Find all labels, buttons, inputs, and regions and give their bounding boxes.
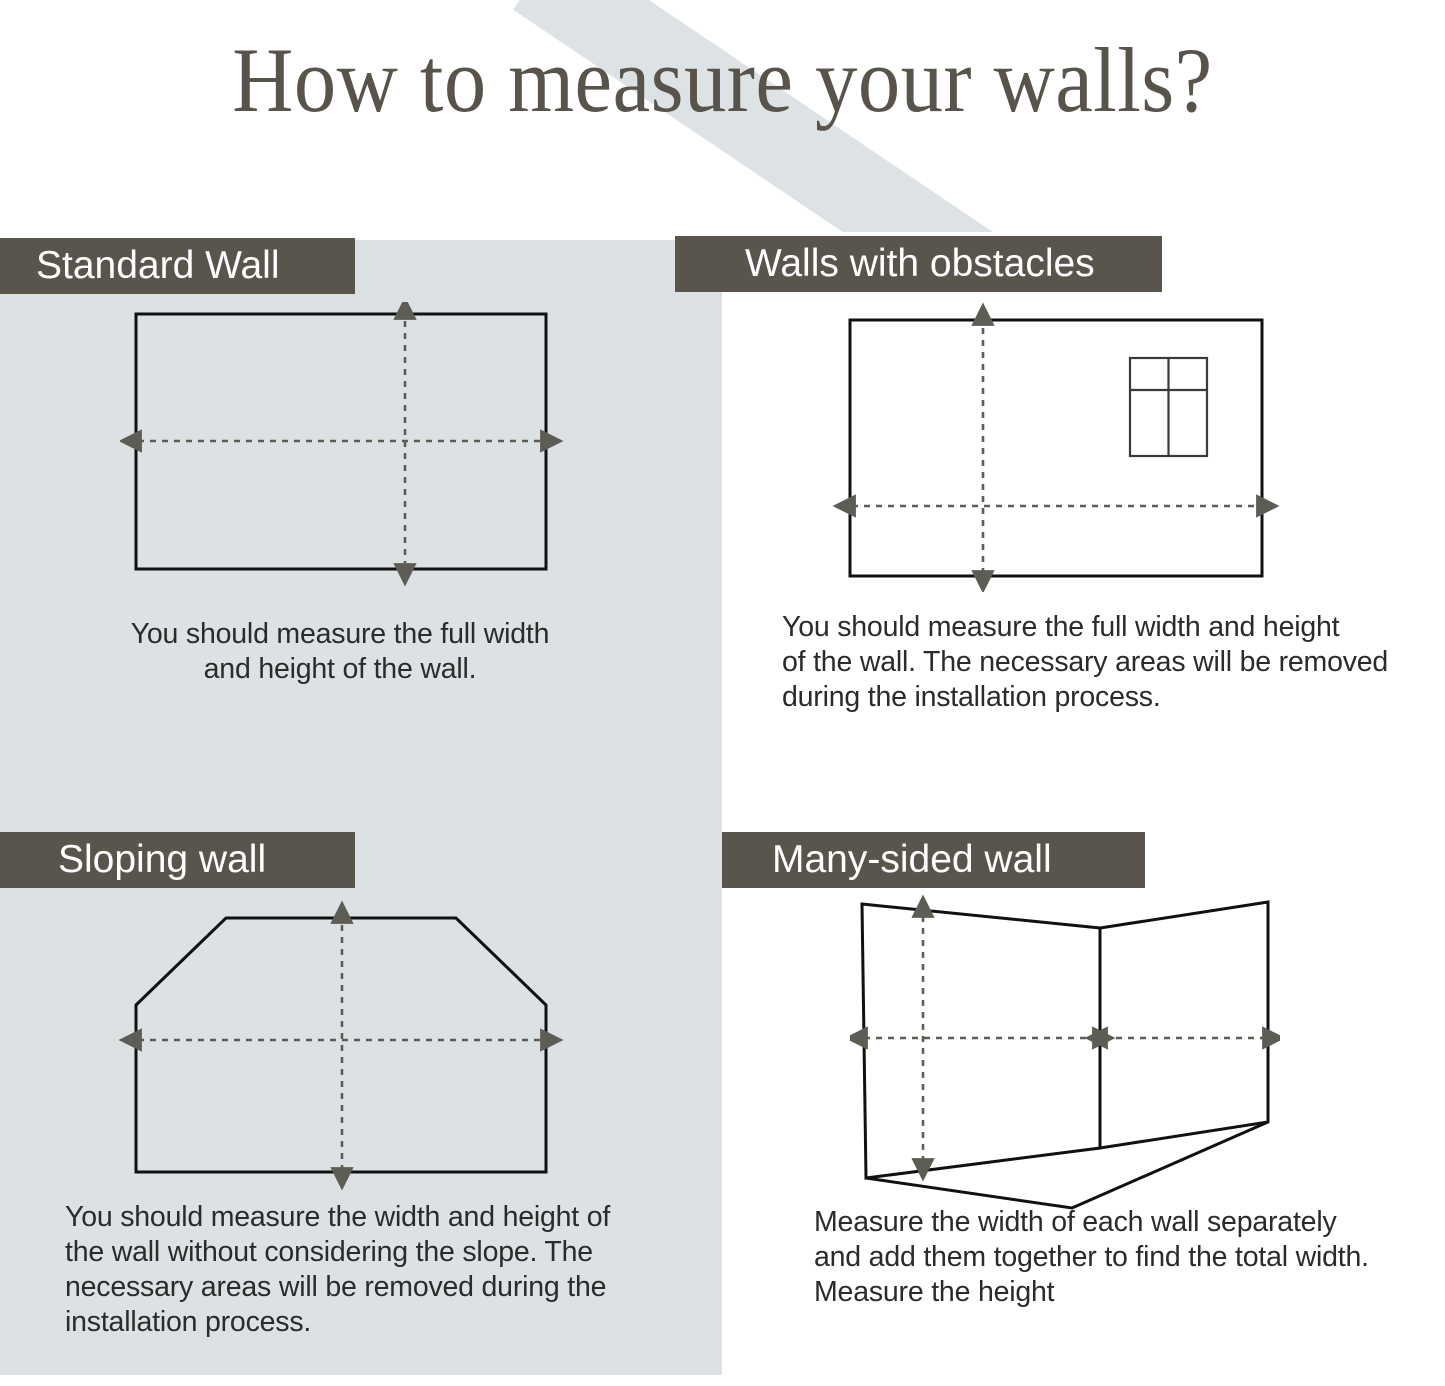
caption-line: installation process. [65,1305,665,1340]
caption-sloping-wall: You should measure the width and height … [65,1200,665,1340]
corner-room-diagram [850,890,1280,1215]
section-sloping-wall: Sloping wall You should measure the widt… [0,825,722,1386]
page-title: How to measure your walls? [58,30,1387,131]
section-heading-many-sided-wall: Many-sided wall [722,832,1145,888]
caption-line: necessary areas will be removed during t… [65,1270,665,1305]
caption-line: You should measure the width and height … [65,1200,665,1235]
caption-line: of the wall. The necessary areas will be… [782,645,1432,680]
section-heading-standard-wall: Standard Wall [0,238,355,294]
section-heading-walls-with-obstacles: Walls with obstacles [675,236,1162,292]
wall-with-window-diagram [832,302,1302,597]
section-standard-wall: Standard Wall You should measure the ful… [0,232,722,792]
right-wall-outline [1100,902,1268,1148]
caption-walls-with-obstacles: You should measure the full width and he… [782,610,1432,715]
caption-line: You should measure the full width and he… [782,610,1432,645]
floor-outline [866,1122,1268,1208]
section-walls-with-obstacles: Walls with obstacles You should me [722,232,1445,792]
caption-line: You should measure the full width [60,617,620,652]
standard-wall-diagram [120,302,580,597]
caption-standard-wall: You should measure the full width and he… [60,617,620,687]
window-icon [1130,358,1207,456]
wall-outline [136,314,546,569]
caption-line: and add them together to find the total … [814,1240,1434,1275]
sloping-wall-diagram [118,900,568,1195]
caption-many-sided-wall: Measure the width of each wall separatel… [814,1205,1434,1310]
caption-line: the wall without considering the slope. … [65,1235,665,1270]
page-header: How to measure your walls? [0,0,1445,232]
caption-line: Measure the height [814,1275,1434,1310]
section-many-sided-wall: Many-sided wall Measure the width [722,825,1445,1386]
caption-line: Measure the width of each wall separatel… [814,1205,1434,1240]
section-heading-sloping-wall: Sloping wall [0,832,355,888]
caption-line: during the installation process. [782,680,1432,715]
left-wall-outline [862,904,1100,1178]
caption-line: and height of the wall. [60,652,620,687]
